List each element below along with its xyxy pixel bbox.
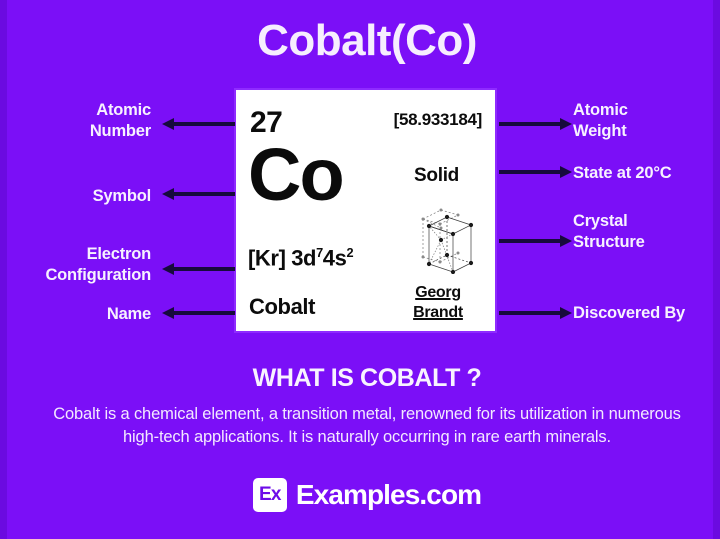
callout-atomic-number-line2: Number [90,121,151,142]
discoverer-first-name: Georg [395,283,481,303]
callout-atomic-weight-line2: Weight [573,121,628,142]
arrow-discovered-by [499,311,561,315]
callout-name: Name [107,304,151,325]
callout-state-line1: State at 20°C [573,163,671,184]
callout-name-line1: Name [107,304,151,325]
hexagonal-close-packed-lattice-icon [409,202,479,274]
element-card: 27 [58.933184] Co Solid [234,88,497,333]
state-value: Solid [414,165,459,187]
callout-electron-configuration-line1: Electron [45,244,151,265]
arrow-electron-configuration [173,267,235,271]
discoverer-last-name: Brandt [395,303,481,323]
arrow-atomic-weight [499,122,561,126]
callout-electron-configuration-line2: Configuration [45,265,151,286]
arrow-state [499,170,561,174]
element-name-value: Cobalt [249,294,315,320]
callout-atomic-weight-line1: Atomic [573,100,628,121]
arrow-name [173,311,235,315]
econfig-mid: 4s [323,245,347,270]
arrow-atomic-number [173,122,235,126]
callout-atomic-number: Atomic Number [90,100,151,142]
callout-atomic-weight: Atomic Weight [573,100,628,142]
callout-crystal-structure: Crystal Structure [573,211,645,253]
electron-configuration-value: [Kr] 3d74s2 [248,245,353,271]
callout-state: State at 20°C [573,163,671,184]
examples-logo-icon: Ex [253,478,287,512]
callout-crystal-structure-line1: Crystal [573,211,645,232]
infographic-poster: Cobalt(Co) 27 [58.933184] Co Solid [0,0,720,539]
about-description: Cobalt is a chemical element, a transiti… [41,403,693,450]
callout-crystal-structure-line2: Structure [573,232,645,253]
arrow-crystal-structure [499,239,561,243]
atomic-weight-value: [58.933184] [394,110,482,130]
about-heading: WHAT IS COBALT ? [7,364,720,393]
callout-atomic-number-line1: Atomic [90,100,151,121]
callout-symbol: Symbol [93,186,151,207]
callout-symbol-line1: Symbol [93,186,151,207]
econfig-base: [Kr] 3d [248,245,316,270]
arrow-symbol [173,192,235,196]
callout-electron-configuration: Electron Configuration [45,244,151,286]
page-title: Cobalt(Co) [7,16,720,67]
callout-discovered-by-line1: Discovered By [573,303,685,324]
examples-logo-text: Examples.com [296,479,481,511]
discoverer-value: Georg Brandt [395,283,481,322]
element-symbol-value: Co [248,138,343,212]
element-card-inner: 27 [58.933184] Co Solid [236,90,495,331]
callout-discovered-by: Discovered By [573,303,685,324]
site-footer: Ex Examples.com [7,478,720,512]
econfig-sup-1: 7 [316,245,323,260]
econfig-sup-2: 2 [346,245,353,260]
